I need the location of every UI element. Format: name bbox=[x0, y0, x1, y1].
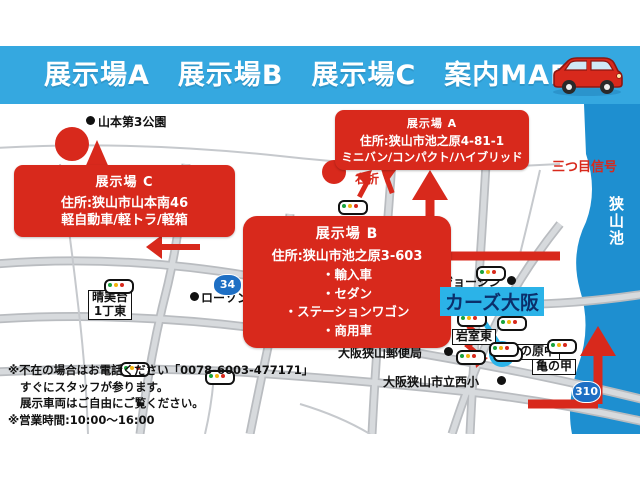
callout-b-item-4: ・商用車 bbox=[247, 323, 447, 339]
callout-b-title: 展示場 B bbox=[247, 223, 447, 243]
lawson-dot-icon bbox=[190, 292, 199, 301]
traffic-signal-icon bbox=[338, 200, 368, 215]
label-right-turn: 右折 bbox=[355, 170, 379, 187]
map-flyer: 展示場A 展示場B 展示場C 案内MAP bbox=[0, 0, 640, 480]
landmark-school: 大阪狭山市立西小 bbox=[383, 373, 479, 390]
callout-c-address: 住所:狭山市山本南46 bbox=[18, 192, 231, 211]
note-line-4: ※営業時間:10:00〜16:00 bbox=[8, 412, 313, 429]
callout-a-items: ミニバン/コンパクト/ハイブリッド bbox=[339, 150, 525, 164]
callout-exhibition-b[interactable]: 展示場 B 住所:狭山市池之原3-603 ・輸入車 ・セダン ・ステーションワゴ… bbox=[243, 216, 451, 348]
traffic-signal-icon bbox=[104, 279, 134, 294]
intersection-harumidai: 晴美台 1丁東 bbox=[88, 290, 132, 320]
note-line-1: ※不在の場合はお電話ください「0078-6003-477171」 bbox=[8, 362, 313, 379]
page-title: 展示場A 展示場B 展示場C 案内MAP bbox=[44, 58, 571, 94]
callout-b-item-1: ・輸入車 bbox=[247, 267, 447, 283]
park-dot-icon bbox=[86, 116, 95, 125]
intersection-kamenoko: 亀の甲 bbox=[532, 359, 576, 375]
post-office-dot-icon bbox=[444, 347, 453, 356]
shop-name-label: カーズ大阪 bbox=[440, 287, 544, 316]
route-shield-34: 34 bbox=[213, 274, 242, 296]
note-line-3: 展示車両はご自由にご覧ください。 bbox=[8, 395, 313, 412]
notes-block: ※不在の場合はお電話ください「0078-6003-477171」 すぐにスタッフ… bbox=[8, 362, 313, 429]
callout-exhibition-c[interactable]: 展示場 C 住所:狭山市山本南46 軽自動車/軽トラ/軽箱 bbox=[14, 165, 235, 237]
callout-c-items: 軽自動車/軽トラ/軽箱 bbox=[18, 213, 231, 229]
intersection-iwamuro-higashi: 岩室東 bbox=[452, 329, 496, 345]
traffic-signal-icon bbox=[476, 266, 506, 281]
red-car-icon bbox=[548, 52, 626, 98]
route-arrow-a bbox=[412, 170, 448, 200]
school-dot-icon bbox=[497, 376, 506, 385]
traffic-signal-icon bbox=[489, 342, 519, 357]
label-third-signal: 三つ目信号 bbox=[552, 156, 617, 175]
traffic-signal-icon bbox=[456, 350, 486, 365]
callout-a-title: 展示場 A bbox=[339, 115, 525, 131]
callout-exhibition-a[interactable]: 展示場 A 住所:狭山市池之原4-81-1 ミニバン/コンパクト/ハイブリッド bbox=[335, 110, 529, 170]
harumidai-line-2: 1丁東 bbox=[94, 304, 126, 318]
callout-b-item-3: ・ステーションワゴン bbox=[247, 304, 447, 320]
traffic-signal-icon bbox=[547, 339, 577, 354]
route-shield-310: 310 bbox=[572, 381, 601, 403]
traffic-signal-icon bbox=[497, 316, 527, 331]
landmark-park: 山本第3公園 bbox=[98, 113, 166, 130]
joshin-dot-icon bbox=[507, 276, 516, 285]
label-sayama-pond: 狭山池 bbox=[606, 196, 627, 247]
callout-b-item-2: ・セダン bbox=[247, 286, 447, 302]
callout-a-address: 住所:狭山市池之原4-81-1 bbox=[339, 132, 525, 149]
callout-b-address: 住所:狭山市池之原3-603 bbox=[247, 245, 447, 264]
callout-c-title: 展示場 C bbox=[18, 171, 231, 190]
note-line-2: すぐにスタッフが参ります。 bbox=[8, 379, 313, 396]
